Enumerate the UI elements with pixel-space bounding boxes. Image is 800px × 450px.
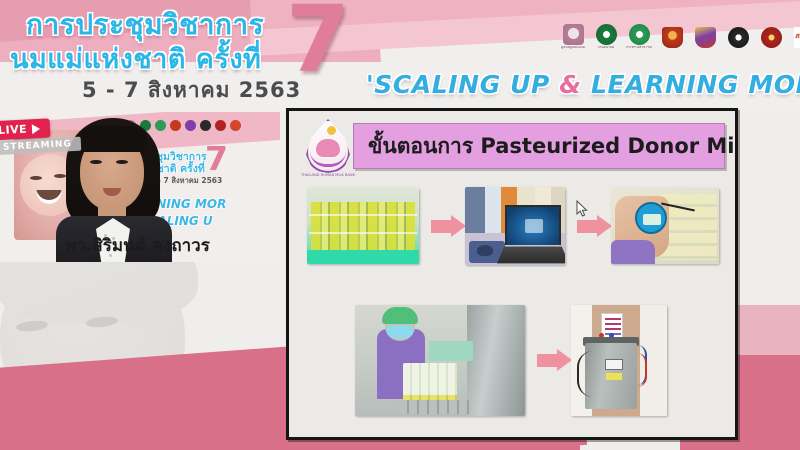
logo-caption: กระทรวงสาธารณสุข xyxy=(626,46,652,50)
milk-droplet-icon xyxy=(327,126,336,135)
process-row-1 xyxy=(307,187,719,265)
medical-council-logo xyxy=(758,22,784,52)
thaihealth-icon xyxy=(794,27,800,48)
green-cloth xyxy=(429,341,473,361)
green-floor xyxy=(307,250,419,264)
thaihealth-sss-logo xyxy=(791,22,800,52)
milk-bottles-in-crates-photo xyxy=(307,188,419,264)
laptop-record-keeping-photo xyxy=(465,187,565,265)
slide-title: ขั้นตอนการ Pasteurized Donor Milk xyxy=(368,130,738,163)
poster-logo-5-icon xyxy=(185,120,196,131)
presentation-slide[interactable]: THAILAND HUMAN MILK BANK ขั้นตอนการ Past… xyxy=(286,108,738,440)
royal-emblem-logo xyxy=(692,22,718,52)
computer-mouse xyxy=(477,245,493,256)
poster-edition-number: 7 xyxy=(205,142,228,175)
conference-date: 5 - 7 สิงหาคม 2563 xyxy=(82,74,301,107)
slide-title-banner: ขั้นตอนการ Pasteurized Donor Milk xyxy=(353,123,725,169)
process-arrow-1-icon xyxy=(419,204,465,248)
speaker-name-caption: พว.สิริมนต์ คงถาวร xyxy=(0,232,275,259)
department-health-logo: กระทรวงสาธารณสุข xyxy=(626,22,652,52)
live-badge: LIVE xyxy=(0,118,51,140)
conference-header: การประชุมวิชาการ นมแม่แห่งชาติ ครั้งที่ … xyxy=(0,0,800,108)
laptop-screen xyxy=(505,205,561,245)
speaker-eye-left xyxy=(90,160,102,164)
digital-thermometer-icon xyxy=(635,202,667,234)
purple-sleeve xyxy=(611,240,655,264)
speaker-eye-right xyxy=(116,160,128,164)
ministry-public-health-logo: กรมอนามัย xyxy=(593,22,619,52)
slogan-ampersand: & xyxy=(559,70,581,99)
slogan-prefix: 'SCALING UP xyxy=(366,70,559,99)
edition-number: 7 xyxy=(286,0,350,86)
logo-caption-text: THAILAND HUMAN MILK BANK xyxy=(297,173,359,177)
human-milk-bank-drop-logo: THAILAND HUMAN MILK BANK xyxy=(297,117,359,181)
department-health-icon xyxy=(629,24,650,45)
ministry-public-health-icon xyxy=(596,24,617,45)
bottle-rack xyxy=(311,202,415,250)
power-cord xyxy=(577,351,593,397)
medical-council-icon xyxy=(761,27,782,48)
nurse-loading-bottles-photo xyxy=(355,305,525,416)
red-hose xyxy=(637,353,647,387)
logo-caption: กรมอนามัย xyxy=(598,46,615,50)
poster-logo-6-icon xyxy=(200,120,211,131)
nursing-council-icon xyxy=(728,27,749,48)
poster-logo-8-icon xyxy=(230,120,241,131)
logo-caption: มูลนิธิศูนย์นมแม่ xyxy=(561,46,585,50)
poster-logo-7-icon xyxy=(215,120,226,131)
play-icon xyxy=(32,123,41,133)
process-row-2 xyxy=(355,305,667,416)
royal-college-logo xyxy=(659,22,685,52)
royal-patronage-logo: มูลนิธิศูนย์นมแม่ xyxy=(560,22,586,52)
rack-shelf xyxy=(309,232,417,234)
slogan-suffix: LEARNING MORE' xyxy=(582,70,800,99)
surgical-cap-icon xyxy=(382,307,418,324)
face-mask-icon xyxy=(386,325,414,339)
child-eye-left xyxy=(30,176,42,180)
live-label: LIVE xyxy=(0,123,27,138)
machine-yellow-label xyxy=(606,373,622,380)
conference-slogan: 'SCALING UP & LEARNING MORE' xyxy=(366,70,800,99)
speaker-fringe xyxy=(76,126,148,152)
process-arrow-2-icon xyxy=(565,204,611,248)
process-arrow-3-icon xyxy=(525,339,571,383)
poster-logo-4-icon xyxy=(170,120,181,131)
screen-capture: การประชุมวิชาการ นมแม่แห่งชาติ ครั้งที่ … xyxy=(0,0,800,450)
royal-emblem-icon xyxy=(695,27,716,48)
steel-door xyxy=(467,305,525,416)
metal-tray xyxy=(399,400,471,414)
organization-logo-strip: มูลนิธิศูนย์นมแม่ กรมอนามัย กระทรวงสาธาร… xyxy=(560,22,800,52)
laptop-keyboard xyxy=(497,246,565,263)
machine-display-panel xyxy=(605,359,623,370)
rack-shelf xyxy=(309,214,417,216)
royal-patronage-icon xyxy=(563,24,584,45)
nursing-council-logo xyxy=(725,22,751,52)
pasteurizer-machine-photo xyxy=(571,305,667,416)
temperature-probe-photo xyxy=(611,188,719,264)
royal-college-icon xyxy=(662,27,683,48)
